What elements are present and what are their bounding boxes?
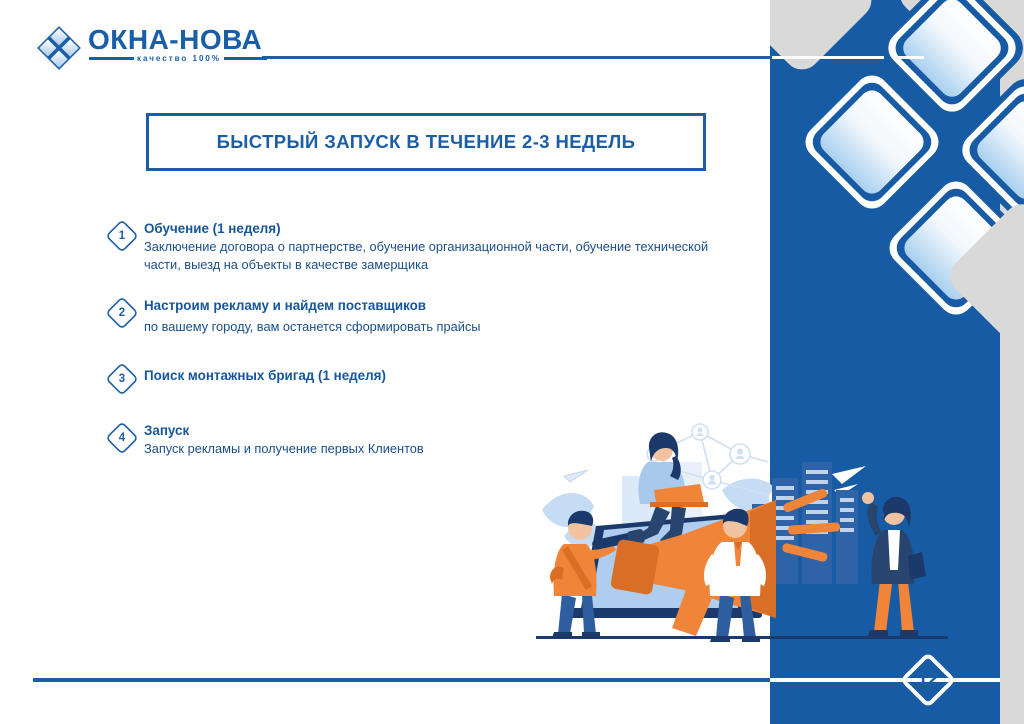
step-description: Запуск рекламы и получение первых Клиент… bbox=[144, 440, 424, 458]
list-item: 2 Настроим рекламу и найдем поставщиков … bbox=[105, 295, 725, 336]
header-divider-stub-right bbox=[898, 56, 924, 59]
page-number: 12 bbox=[902, 654, 954, 706]
page-number-badge: 12 bbox=[902, 654, 954, 706]
list-item: 1 Обучение (1 неделя) Заключение договор… bbox=[105, 218, 725, 273]
slide-canvas: ОКНА-НОВА качество 100% БЫСТРЫЙ ЗАПУСК В… bbox=[0, 0, 1024, 724]
step-number: 4 bbox=[105, 421, 139, 455]
step-content: Поиск монтажных бригад (1 неделя) bbox=[139, 361, 386, 385]
right-gray-strip bbox=[1000, 0, 1024, 724]
step-number: 2 bbox=[105, 296, 139, 330]
brand-tagline: качество 100% bbox=[134, 54, 224, 63]
step-content: Обучение (1 неделя) Заключение договора … bbox=[139, 218, 725, 273]
list-item: 3 Поиск монтажных бригад (1 неделя) bbox=[105, 361, 725, 396]
step-number-badge: 1 bbox=[105, 219, 139, 253]
step-number-badge: 4 bbox=[105, 421, 139, 455]
brand-logo: ОКНА-НОВА качество 100% bbox=[36, 24, 266, 70]
footer-divider-line bbox=[33, 678, 770, 682]
footer-divider-line-white bbox=[770, 678, 1000, 682]
step-content: Запуск Запуск рекламы и получение первых… bbox=[139, 420, 424, 458]
slide-title-box: БЫСТРЫЙ ЗАПУСК В ТЕЧЕНИЕ 2-3 НЕДЕЛЬ bbox=[146, 113, 706, 171]
steps-list: 1 Обучение (1 неделя) Заключение договор… bbox=[105, 218, 725, 457]
step-title: Поиск монтажных бригад (1 неделя) bbox=[144, 367, 386, 384]
step-number: 3 bbox=[105, 362, 139, 396]
right-decorative-panel bbox=[770, 0, 1000, 724]
page-title: БЫСТРЫЙ ЗАПУСК В ТЕЧЕНИЕ 2-3 НЕДЕЛЬ bbox=[217, 131, 636, 153]
four-diamond-logo-icon bbox=[36, 26, 82, 75]
step-number-badge: 3 bbox=[105, 362, 139, 396]
step-title: Запуск bbox=[144, 422, 424, 439]
step-title: Настроим рекламу и найдем поставщиков bbox=[144, 297, 480, 314]
step-content: Настроим рекламу и найдем поставщиков по… bbox=[139, 295, 480, 336]
step-description: Заключение договора о партнерстве, обуче… bbox=[144, 238, 725, 273]
step-title: Обучение (1 неделя) bbox=[144, 220, 725, 237]
step-description: по вашему городу, вам останется сформиро… bbox=[144, 318, 480, 336]
brand-name: ОКНА-НОВА bbox=[88, 24, 262, 56]
step-number: 1 bbox=[105, 219, 139, 253]
list-item: 4 Запуск Запуск рекламы и получение перв… bbox=[105, 420, 725, 458]
header-divider-line bbox=[262, 56, 770, 59]
step-number-badge: 2 bbox=[105, 296, 139, 330]
header-divider-stub-left bbox=[772, 56, 884, 59]
